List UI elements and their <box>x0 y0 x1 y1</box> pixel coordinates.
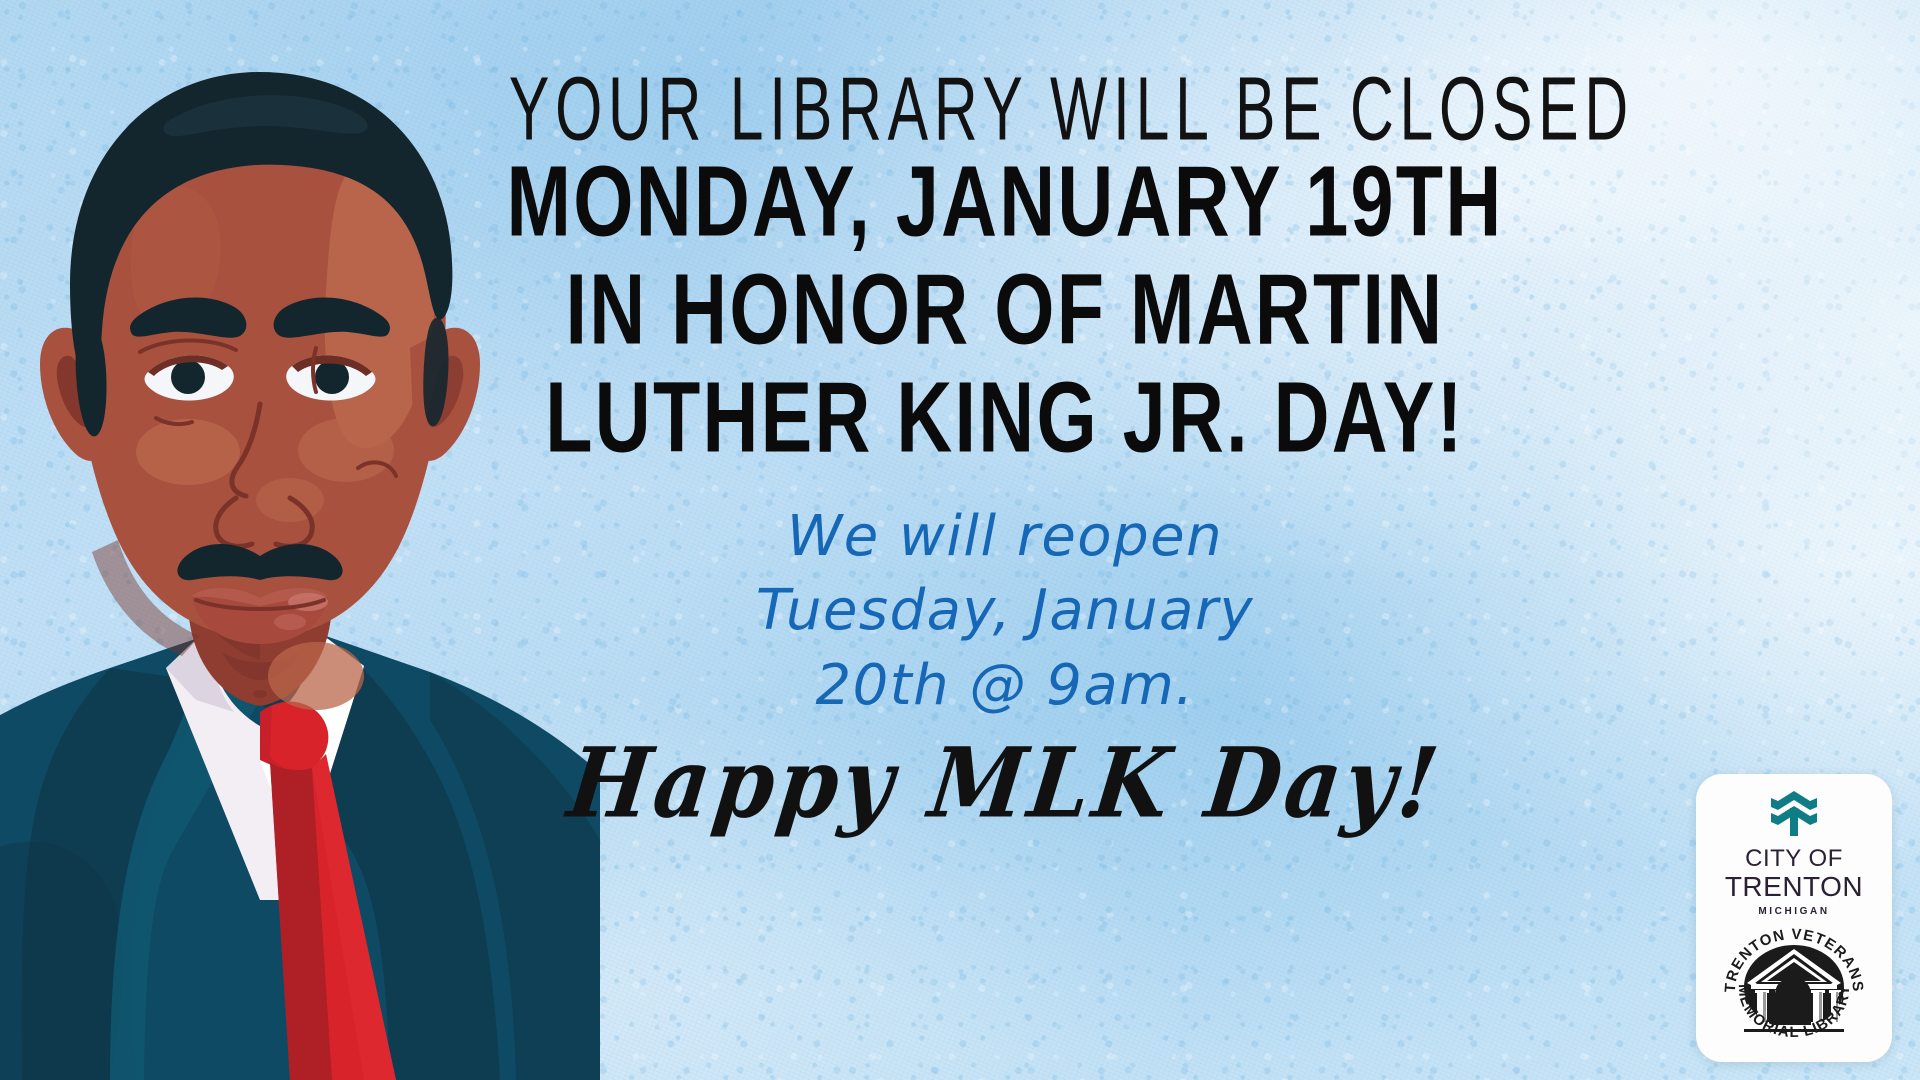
logo-city-of-text: CITY OF <box>1745 846 1843 871</box>
announcement-text-block: YOUR LIBRARY WILL BE CLOSED MONDAY, JANU… <box>400 64 1610 830</box>
headline-line-honor: IN HONOR OF MARTIN <box>461 260 1550 360</box>
headline-line-closed: YOUR LIBRARY WILL BE CLOSED <box>509 64 1501 154</box>
reopen-line-2: Tuesday, January <box>400 574 1610 648</box>
logo-michigan-text: MICHIGAN <box>1758 906 1829 917</box>
headline-line-mlk-day: LUTHER KING JR. DAY! <box>461 368 1550 468</box>
reopen-line-3: 20th @ 9am. <box>400 649 1610 723</box>
reopen-line-1: We will reopen <box>400 500 1610 574</box>
city-logo-card[interactable]: CITY OF TRENTON MICHIGAN <box>1696 774 1892 1062</box>
pine-tree-arrow-icon <box>1765 790 1823 836</box>
closing-greeting: Happy MLK Day! <box>394 734 1616 835</box>
poster-canvas: YOUR LIBRARY WILL BE CLOSED MONDAY, JANU… <box>0 0 1920 1080</box>
reopen-notice: We will reopen Tuesday, January 20th @ 9… <box>400 500 1610 723</box>
headline-line-date: MONDAY, JANUARY 19TH <box>461 152 1550 252</box>
logo-trenton-text: TRENTON <box>1725 871 1863 902</box>
library-seal-icon: TRENTON VETERANS MEMORIAL LIBRARY <box>1719 917 1869 1056</box>
